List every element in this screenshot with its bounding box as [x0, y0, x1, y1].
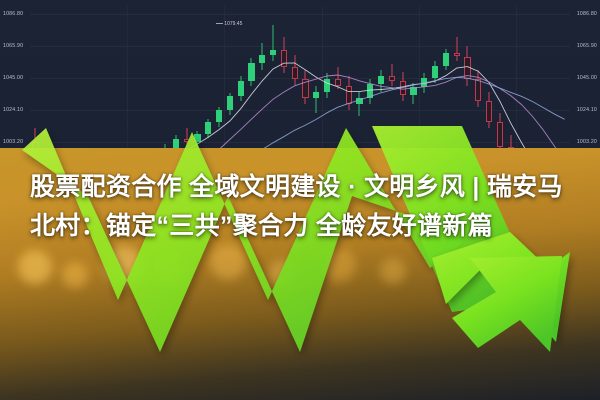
volume-bar: [70, 353, 75, 396]
candle-body: [216, 110, 222, 122]
volume-bar: [101, 367, 106, 396]
volume-bar: [433, 368, 438, 396]
volume-bar: [541, 376, 546, 396]
candlestick: [335, 67, 341, 88]
volume-ytick-label-right: 627.59: [581, 360, 596, 366]
candlestick: [292, 55, 298, 86]
headline-text: 股票配资合作 全域文明建设 · 文明乡风 | 瑞安马北村：锚定“三共”聚合力 全…: [30, 168, 575, 246]
candlestick: [475, 70, 481, 107]
volume-ytick-label-right: 313.80: [581, 377, 596, 383]
candle-body: [497, 122, 503, 146]
candle-body: [432, 66, 438, 78]
volume-bar: [224, 365, 229, 396]
candle-wick: [359, 92, 360, 116]
price-ytick-label-left: 961.40: [3, 203, 20, 209]
volume-bar: [255, 377, 260, 396]
candle-body: [389, 76, 395, 81]
volume-bar: [525, 371, 530, 396]
candle-body: [410, 87, 416, 95]
volume-bar: [456, 361, 461, 396]
volume-bar: [371, 374, 376, 396]
candlestick: [410, 83, 416, 104]
volume-bar: [302, 375, 307, 396]
candlestick: [238, 76, 244, 101]
volume-bar: [39, 374, 44, 396]
candle-body: [248, 63, 254, 81]
volume-bar: [294, 377, 299, 396]
volume-bar: [217, 367, 222, 396]
volume-bar: [348, 379, 353, 396]
candle-body: [281, 50, 287, 67]
volume-ytick-label-left: 0: [4, 393, 7, 399]
volume-bar: [548, 378, 553, 396]
price-ytick-label-left: 919.60: [3, 267, 20, 273]
volume-bar: [556, 380, 561, 396]
volume-bar: [163, 371, 168, 396]
candle-body: [173, 139, 179, 148]
volume-bar: [271, 376, 276, 396]
price-ytick-label-right: 961.40: [580, 203, 597, 209]
volume-bar: [410, 367, 415, 396]
candle-body: [486, 101, 492, 122]
volume-ytick-label-left: 313.80: [4, 377, 19, 383]
candlestick: [162, 144, 168, 162]
candle-body: [324, 79, 330, 91]
volume-bar: [232, 369, 237, 396]
volume-bar: [471, 353, 476, 396]
volume-bar: [340, 381, 345, 396]
volume-bar: [186, 373, 191, 396]
candlestick: [486, 92, 492, 129]
volume-bar: [510, 363, 515, 396]
candle-body: [356, 98, 362, 104]
candle-body: [508, 147, 514, 165]
volume-bar: [386, 372, 391, 396]
volume-bar: [502, 369, 507, 396]
price-ytick-label-right: 1045.00: [577, 75, 597, 81]
candle-body: [400, 81, 406, 95]
candle-body: [151, 156, 157, 167]
candle-wick: [456, 37, 457, 61]
candle-wick: [186, 128, 187, 146]
candle-body: [346, 86, 352, 104]
candle-body: [475, 79, 481, 100]
volume-bar: [487, 367, 492, 396]
candlestick: [367, 79, 373, 104]
annotation-leader-line: [141, 279, 148, 280]
volume-bar: [394, 369, 399, 396]
candlestick: [216, 107, 222, 127]
volume-bar: [140, 359, 145, 396]
price-ytick-label-left: 1024.10: [3, 107, 23, 113]
price-ytick-label-right: 1024.10: [577, 107, 597, 113]
price-annotation: 912.20: [141, 277, 164, 283]
volume-bar: [440, 365, 445, 396]
volume-bar: [278, 378, 283, 396]
candle-body: [443, 53, 449, 65]
volume-bar: [170, 365, 175, 396]
price-ytick-label-right: 1065.90: [577, 43, 597, 49]
volume-gridline: [30, 347, 570, 348]
price-vgridline: [516, 6, 517, 318]
price-ytick-label-right: 940.50: [580, 235, 597, 241]
volume-bar: [533, 374, 538, 396]
candlestick: [194, 131, 200, 149]
volume-bar: [62, 363, 67, 396]
candle-body: [378, 76, 384, 84]
volume-bar: [78, 357, 83, 397]
volume-bar: [263, 374, 268, 396]
volume-bar: [147, 362, 152, 396]
candlestick: [205, 119, 211, 137]
volume-bar: [317, 376, 322, 396]
price-gridline: [30, 14, 570, 15]
candle-body: [270, 50, 276, 55]
candlestick: [302, 70, 308, 104]
candle-body: [238, 81, 244, 96]
candle-body: [454, 53, 460, 56]
price-ytick-label-right: 982.30: [580, 171, 597, 177]
volume-bar: [402, 373, 407, 396]
candlestick: [324, 73, 330, 98]
candlestick: [454, 37, 460, 62]
candlestick: [173, 135, 179, 153]
volume-bar: [564, 381, 569, 396]
price-vgridline: [322, 6, 323, 318]
volume-bar: [155, 368, 160, 396]
candle-body: [464, 57, 470, 80]
volume-bar: [417, 364, 422, 396]
candlestick: [184, 128, 190, 146]
candlestick: [443, 49, 449, 70]
price-gridline: [30, 78, 570, 79]
candlestick: [508, 135, 514, 172]
candlestick: [281, 37, 287, 74]
volume-bar: [47, 365, 52, 396]
volume-bar: [332, 378, 337, 396]
price-ytick-label-right: 919.60: [580, 267, 597, 273]
candle-body: [313, 92, 319, 98]
volume-bar: [55, 376, 60, 396]
candle-body: [162, 148, 168, 156]
volume-bar: [464, 358, 469, 397]
candle-body: [227, 96, 233, 110]
candlestick: [421, 73, 427, 93]
candlestick: [248, 58, 254, 86]
candlestick: [356, 92, 362, 117]
volume-bar: [32, 369, 37, 396]
candle-body: [292, 67, 298, 79]
volume-bar: [178, 369, 183, 396]
candlestick: [346, 76, 352, 110]
candle-body: [205, 122, 211, 134]
volume-bar: [201, 376, 206, 396]
volume-bar: [379, 376, 384, 396]
candlestick: [378, 70, 384, 91]
price-gridline: [30, 270, 570, 271]
price-gridline: [30, 46, 570, 47]
volume-bar: [448, 369, 453, 396]
volume-ytick-label-left: 941.39: [4, 344, 19, 350]
annotation-value: 1079.45: [224, 21, 242, 27]
volume-bar: [363, 380, 368, 396]
candle-wick: [391, 64, 392, 85]
price-ytick-label-left: 1086.80: [3, 11, 23, 17]
candle-wick: [316, 86, 317, 114]
volume-bar: [124, 353, 129, 396]
volume-bar: [518, 367, 523, 396]
price-ytick-label-right: 1086.80: [577, 11, 597, 17]
candlestick: [227, 93, 233, 114]
candlestick: [497, 113, 503, 153]
volume-bar: [194, 370, 199, 396]
volume-bar: [286, 380, 291, 396]
volume-bar: [425, 371, 430, 396]
candle-body: [184, 139, 190, 142]
volume-bar: [494, 365, 499, 396]
candlestick: [432, 61, 438, 82]
price-ytick-label-left: 1065.90: [3, 43, 23, 49]
volume-bar: [86, 349, 91, 396]
candle-body: [367, 84, 373, 98]
candlestick: [270, 25, 276, 61]
price-ytick-label-left: 1003.20: [3, 139, 23, 145]
candle-body: [421, 78, 427, 87]
candle-body: [194, 134, 200, 142]
volume-ytick-label-right: 941.39: [581, 344, 596, 350]
volume-bar: [109, 364, 114, 396]
price-ytick-label-right: 1003.20: [577, 139, 597, 145]
volume-bar: [132, 347, 137, 396]
volume-bar: [248, 375, 253, 396]
candle-body: [259, 55, 265, 63]
candle-body: [335, 79, 341, 85]
price-gridline: [30, 302, 570, 303]
stock-chart-banner: 1086.801086.801065.901065.901045.001045.…: [0, 0, 600, 400]
price-ytick-label-left: 940.50: [3, 235, 20, 241]
volume-bar: [325, 380, 330, 396]
candlestick: [259, 43, 265, 71]
volume-bar: [479, 362, 484, 396]
volume-bar: [356, 377, 361, 396]
volume-bar: [93, 360, 98, 396]
annotation-value: 912.20: [149, 277, 164, 283]
candle-body: [302, 79, 308, 97]
price-gridline: [30, 142, 570, 143]
candlestick: [313, 86, 319, 114]
volume-bar: [209, 374, 214, 396]
candlestick: [464, 46, 470, 86]
price-vgridline: [419, 6, 420, 318]
volume-bar: [240, 372, 245, 396]
candlestick: [389, 64, 395, 85]
candle-wick: [273, 25, 274, 61]
volume-bar: [116, 370, 121, 396]
price-ytick-label-left: 982.30: [3, 171, 20, 177]
price-ytick-label-left: 1045.00: [3, 75, 23, 81]
annotation-leader-line: [216, 23, 223, 24]
candle-body: [32, 142, 38, 168]
price-vgridline: [224, 6, 225, 318]
price-vgridline: [127, 6, 128, 318]
volume-ytick-label-left: 627.59: [4, 360, 19, 366]
candlestick: [400, 72, 406, 101]
volume-bar: [309, 379, 314, 396]
price-ytick-label-left: 898.70: [3, 299, 20, 305]
price-annotation: 1079.45: [216, 21, 242, 27]
price-ytick-label-right: 898.70: [580, 299, 597, 305]
